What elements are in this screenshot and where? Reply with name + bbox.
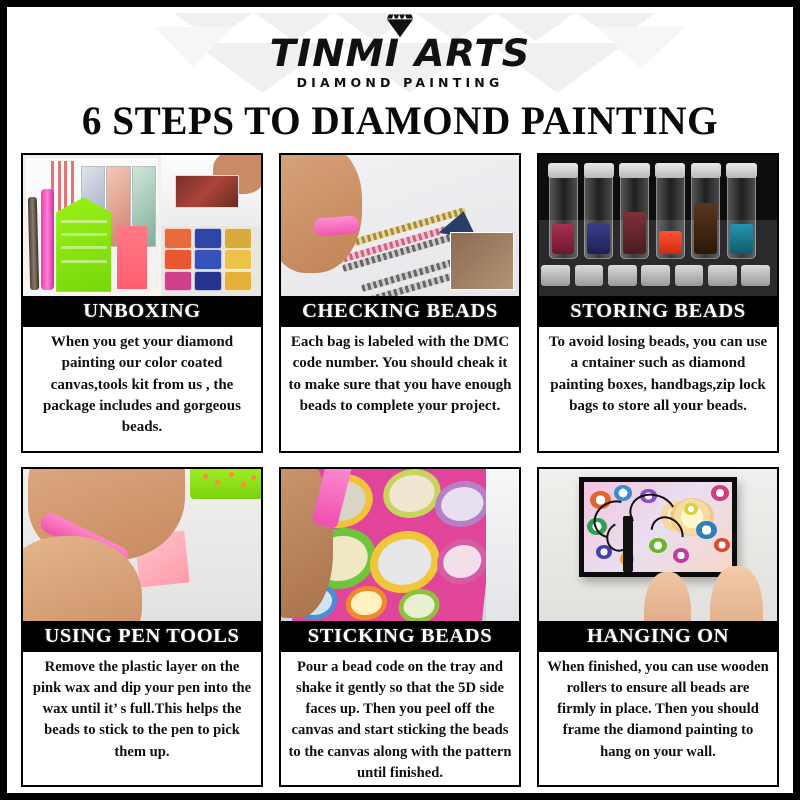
brand-tagline: DIAMOND PAINTING [7,75,793,91]
sticking-beads-photo [281,469,519,621]
step-card-sticking-beads: STICKING BEADS Pour a bead code on the t… [279,467,521,787]
step-text: Each bag is labeled with the DMC code nu… [281,327,519,451]
steps-grid: UNBOXING When you get your diamond paint… [7,149,793,797]
step-text: Remove the plastic layer on the pink wax… [23,652,261,785]
step-card-using-pen-tools: USING PEN TOOLS Remove the plastic layer… [21,467,263,787]
step-label: STORING BEADS [539,296,777,327]
step-card-unboxing: UNBOXING When you get your diamond paint… [21,153,263,453]
unboxing-photo [23,155,261,296]
page-title: 6 STEPS TO DIAMOND PAINTING [15,95,785,149]
brand-header: TINMI ARTS DIAMOND PAINTING [7,7,793,95]
step-label: USING PEN TOOLS [23,621,261,652]
step-card-checking-beads: CHECKING BEADS Each bag is labeled with … [279,153,521,453]
step-label: CHECKING BEADS [281,296,519,327]
step-text: When finished, you can use wooden roller… [539,652,777,785]
hanging-on-photo [539,469,777,621]
step-label: UNBOXING [23,296,261,327]
checking-beads-photo [281,155,519,296]
brand-name: TINMI ARTS [7,34,793,74]
step-card-hanging-on: HANGING ON When finished, you can use wo… [537,467,779,787]
storing-beads-photo [539,155,777,296]
step-label: HANGING ON [539,621,777,652]
step-text: When you get your diamond painting our c… [23,327,261,451]
step-label: STICKING BEADS [281,621,519,652]
step-card-storing-beads: STORING BEADS To avoid losing beads, you… [537,153,779,453]
using-pen-tools-photo [23,469,261,621]
step-text: To avoid losing beads, you can use a cnt… [539,327,777,451]
step-text: Pour a bead code on the tray and shake i… [281,652,519,787]
brand-lockup: TINMI ARTS DIAMOND PAINTING [7,7,793,91]
poster-root: TINMI ARTS DIAMOND PAINTING 6 STEPS TO D… [0,0,800,800]
